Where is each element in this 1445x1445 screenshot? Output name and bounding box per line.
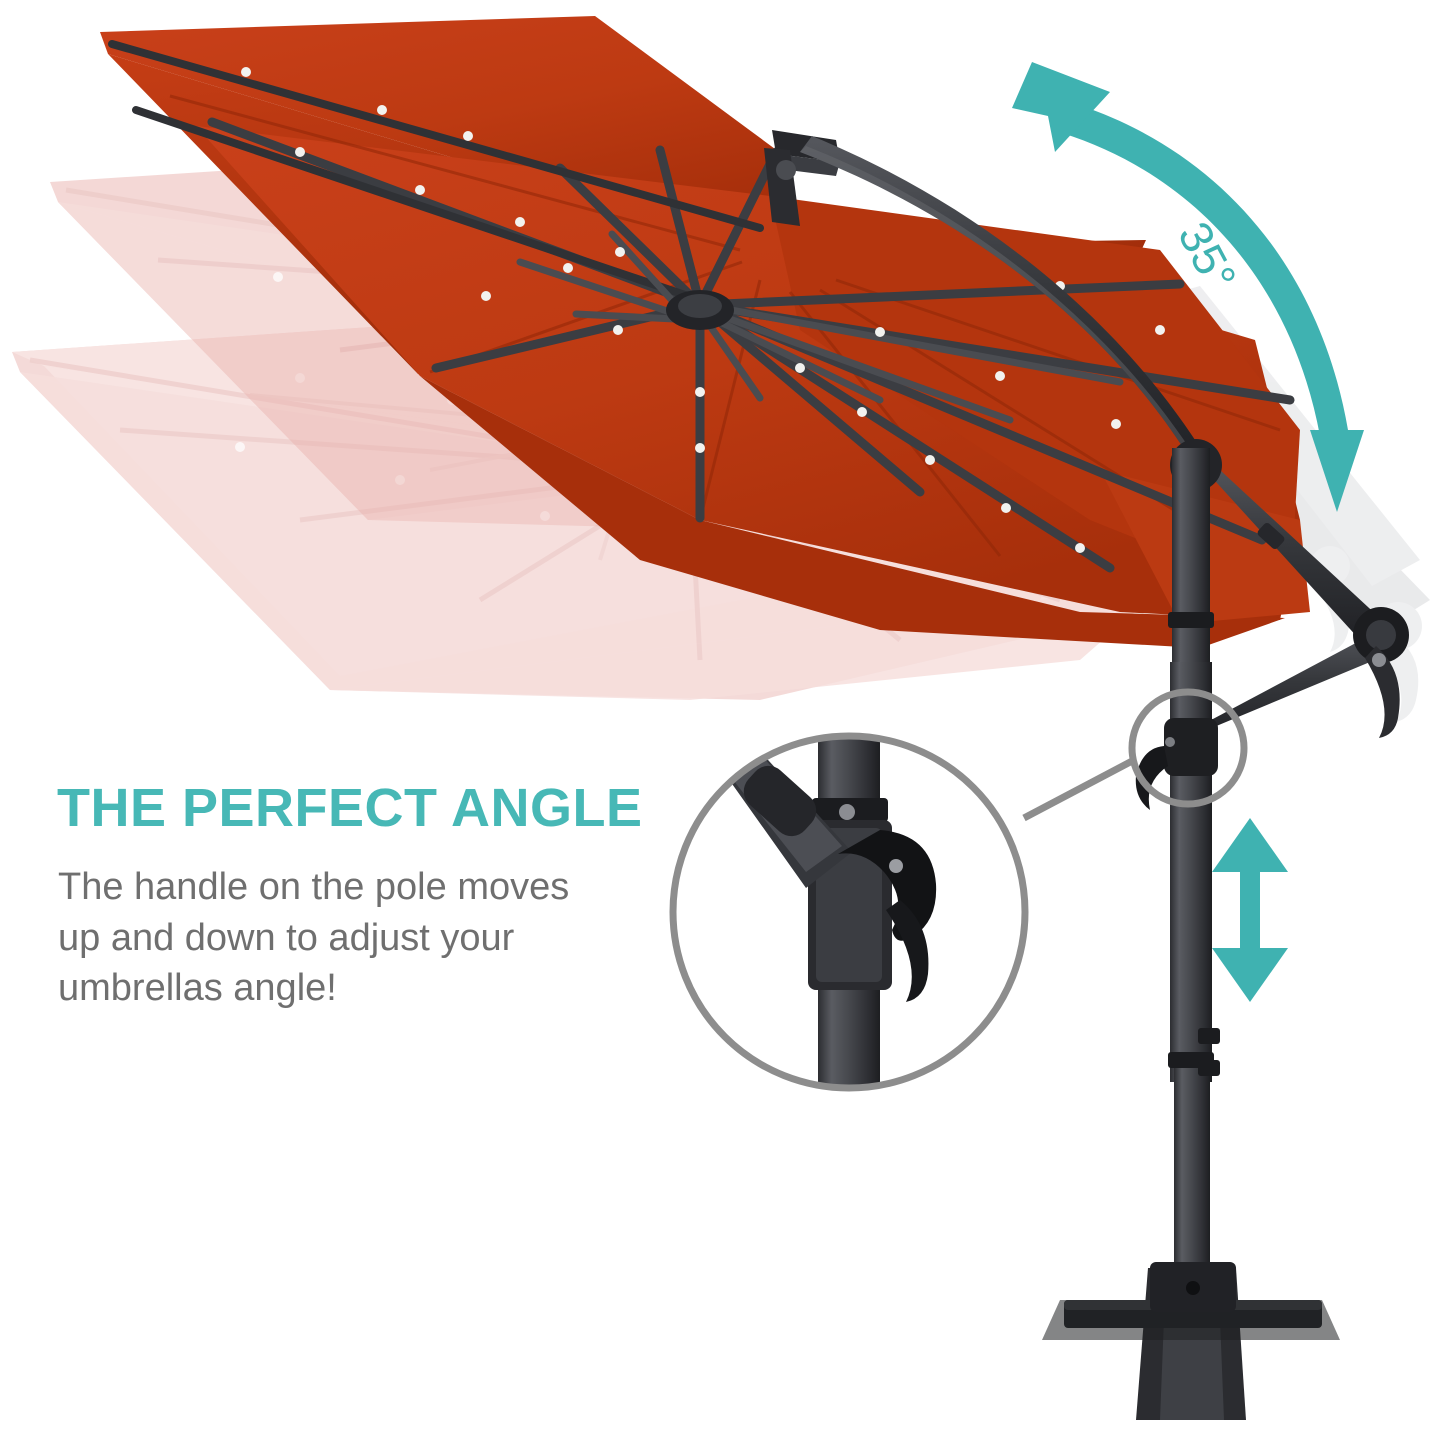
description-line-1: The handle on the pole moves bbox=[58, 862, 658, 913]
height-arrow-down bbox=[1212, 948, 1288, 1002]
height-adjust-arrow bbox=[1212, 818, 1288, 1002]
infographic-canvas: THE PERFECT ANGLE The handle on the pole… bbox=[0, 0, 1445, 1445]
description-line-2: up and down to adjust your bbox=[58, 913, 658, 964]
magnified-detail-callout bbox=[665, 710, 1037, 1130]
description-line-3: umbrellas angle! bbox=[58, 963, 658, 1014]
canopy-hub bbox=[666, 290, 734, 330]
cross-base bbox=[1042, 1262, 1340, 1420]
product-illustration bbox=[0, 0, 1445, 1445]
callout-connector-line bbox=[1024, 760, 1134, 818]
page-title: THE PERFECT ANGLE bbox=[57, 781, 643, 835]
height-arrow-up bbox=[1212, 818, 1288, 872]
description-text: The handle on the pole moves up and down… bbox=[58, 862, 658, 1014]
